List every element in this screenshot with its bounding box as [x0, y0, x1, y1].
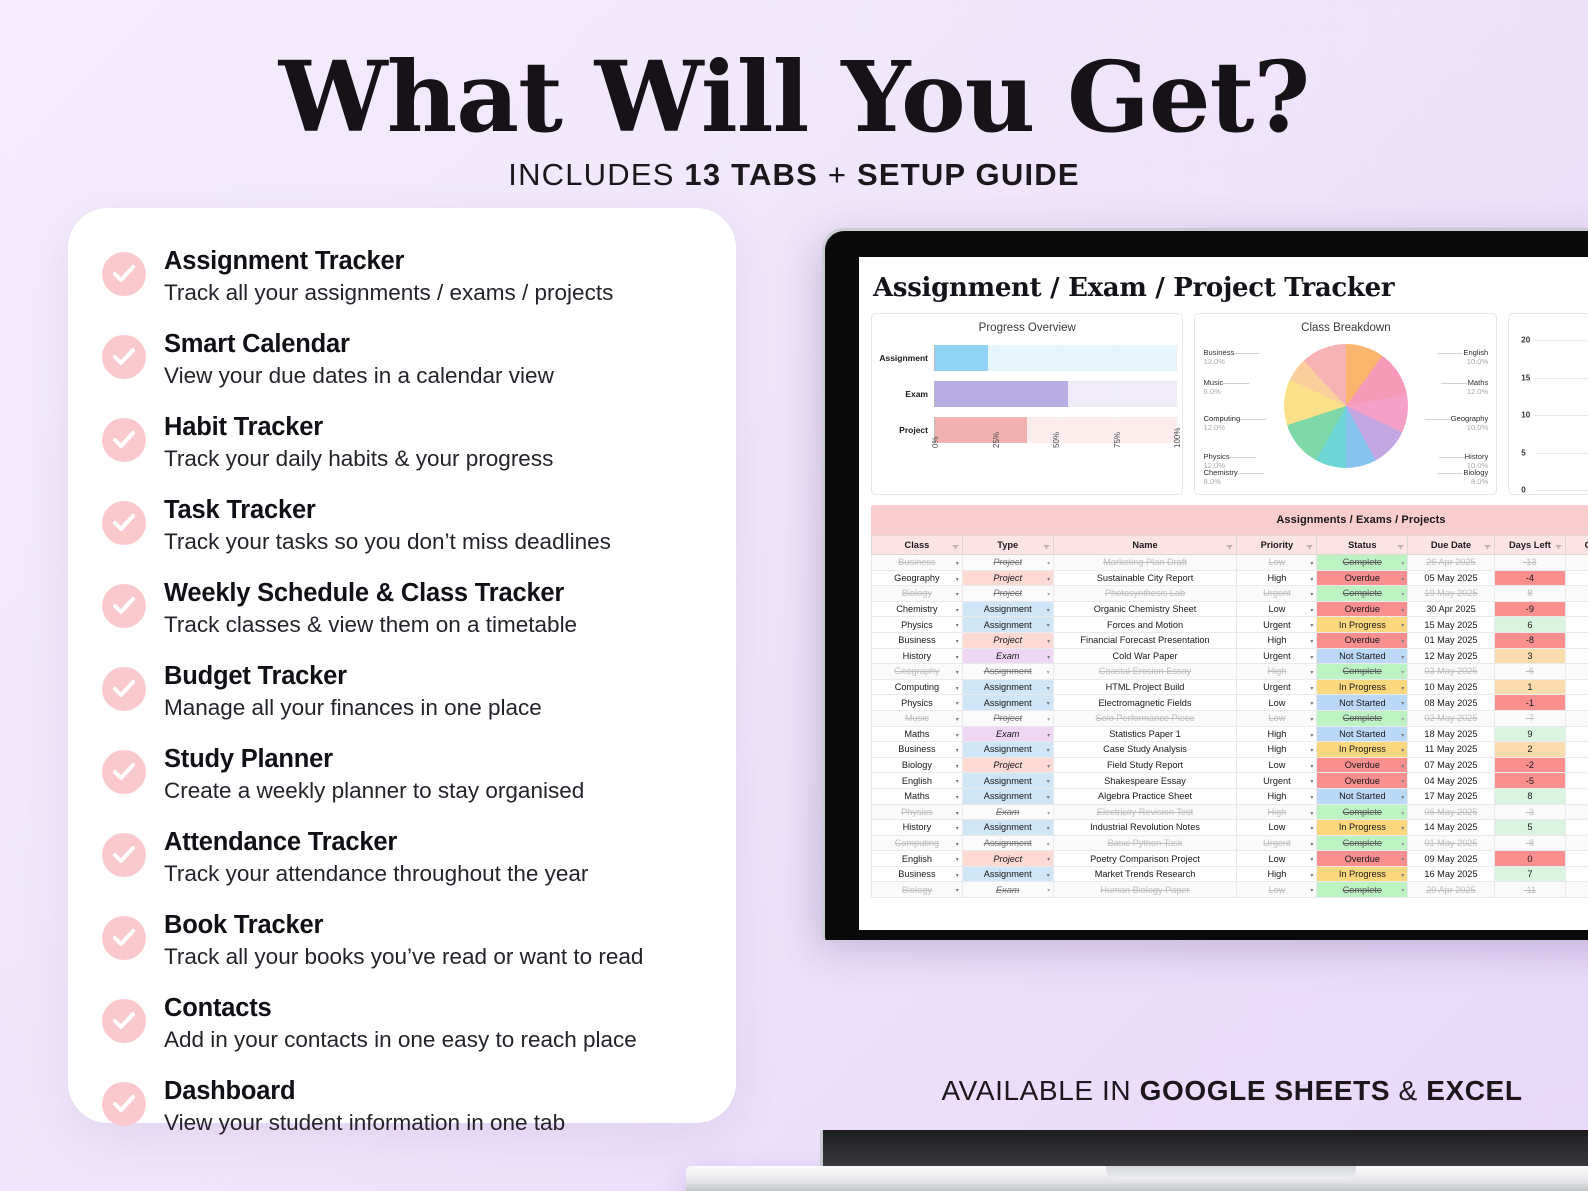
cell-due-date[interactable]: 12 May 2025	[1408, 648, 1494, 664]
dropdown-caret-icon[interactable]: ▾	[1310, 607, 1313, 614]
dropdown-caret-icon[interactable]: ▾	[956, 700, 959, 707]
cell-status[interactable]: Complete▾	[1317, 555, 1408, 571]
dropdown-caret-icon[interactable]: ▾	[1047, 591, 1050, 598]
table-row[interactable]: Business▾ Project▾ Financial Forecast Pr…	[872, 632, 1588, 648]
cell-grade[interactable]: A	[1566, 851, 1588, 867]
cell-priority[interactable]: High▾	[1237, 664, 1317, 680]
dropdown-caret-icon[interactable]: ▾	[1047, 887, 1050, 894]
table-row[interactable]: Geography▾ Assignment▾ Coastal Erosion E…	[872, 664, 1588, 680]
cell-status[interactable]: Overdue▾	[1317, 851, 1408, 867]
pie-label-percent: 6.0%	[1203, 387, 1223, 396]
cell-due-date[interactable]: 07 May 2025	[1408, 757, 1494, 773]
dropdown-caret-icon[interactable]: ▾	[1310, 747, 1313, 754]
dropdown-caret-icon[interactable]: ▾	[1310, 825, 1313, 832]
filter-icon[interactable]	[1226, 542, 1233, 547]
cell-grade[interactable]: B	[1566, 710, 1588, 726]
cell-name[interactable]: HTML Project Build	[1053, 679, 1237, 695]
dropdown-caret-icon[interactable]: ▾	[956, 856, 959, 863]
cell-due-date[interactable]: 01 May 2025	[1408, 632, 1494, 648]
cell-type[interactable]: Project▾	[962, 757, 1053, 773]
cell-status[interactable]: Overdue▾	[1317, 601, 1408, 617]
cell-due-date[interactable]: 10 May 2025	[1408, 679, 1494, 695]
column-header[interactable]: Due Date	[1408, 536, 1494, 555]
cell-class[interactable]: Geography▾	[872, 664, 963, 680]
progress-bar-fill	[935, 345, 988, 371]
dropdown-caret-icon[interactable]: ▾	[1310, 685, 1313, 692]
cell-name[interactable]: Statistics Paper 1	[1053, 726, 1237, 742]
cell-type[interactable]: Exam▾	[962, 726, 1053, 742]
cell-status[interactable]: Overdue▾	[1317, 757, 1408, 773]
feature-title: Study Planner	[164, 744, 584, 774]
dropdown-caret-icon[interactable]: ▾	[1310, 841, 1313, 848]
column-header[interactable]: Days Left	[1494, 536, 1565, 555]
cell-grade[interactable]: C	[1566, 866, 1588, 882]
cell-type[interactable]: Assignment▾	[962, 601, 1053, 617]
filter-icon[interactable]	[1484, 542, 1491, 547]
dropdown-caret-icon[interactable]: ▾	[1310, 887, 1313, 894]
table-row[interactable]: Business▾ Project▾ Marketing Plan Draft …	[872, 555, 1588, 571]
cell-name[interactable]: Algebra Practice Sheet	[1053, 788, 1237, 804]
cell-priority[interactable]: Urgent▾	[1237, 648, 1317, 664]
cell-grade[interactable]: B+	[1566, 820, 1588, 836]
dropdown-caret-icon[interactable]: ▾	[956, 732, 959, 739]
dropdown-caret-icon[interactable]: ▾	[1401, 747, 1404, 754]
cell-class[interactable]: Physics▾	[872, 695, 963, 711]
cell-status[interactable]: Complete▾	[1317, 835, 1408, 851]
table-row[interactable]: Chemistry▾ Assignment▾ Organic Chemistry…	[872, 601, 1588, 617]
cell-type[interactable]: Assignment▾	[962, 866, 1053, 882]
cell-name[interactable]: Basic Python Task	[1053, 835, 1237, 851]
cell-type[interactable]: Assignment▾	[962, 820, 1053, 836]
dropdown-caret-icon[interactable]: ▾	[1047, 856, 1050, 863]
cell-class[interactable]: Biology▾	[872, 757, 963, 773]
cell-due-date[interactable]: 14 May 2025	[1408, 820, 1494, 836]
dropdown-caret-icon[interactable]: ▾	[1401, 887, 1404, 894]
dropdown-caret-icon[interactable]: ▾	[956, 794, 959, 801]
cell-grade[interactable]: A	[1566, 835, 1588, 851]
dropdown-caret-icon[interactable]: ▾	[1401, 763, 1404, 770]
cell-type[interactable]: Project▾	[962, 851, 1053, 867]
cell-priority[interactable]: Urgent▾	[1237, 617, 1317, 633]
dropdown-caret-icon[interactable]: ▾	[1401, 778, 1404, 785]
cell-grade[interactable]: A+	[1566, 695, 1588, 711]
cell-priority[interactable]: Low▾	[1237, 695, 1317, 711]
cell-grade[interactable]: C	[1566, 679, 1588, 695]
dropdown-caret-icon[interactable]: ▾	[1047, 700, 1050, 707]
cell-class[interactable]: Computing▾	[872, 679, 963, 695]
cell-type[interactable]: Assignment▾	[962, 788, 1053, 804]
cell-grade[interactable]: A	[1566, 648, 1588, 664]
pie-label: Maths 12.0%	[1467, 378, 1489, 397]
cell-class[interactable]: History▾	[872, 648, 963, 664]
cell-name[interactable]: Electromagnetic Fields	[1053, 695, 1237, 711]
cell-status[interactable]: Not Started▾	[1317, 788, 1408, 804]
dropdown-caret-icon[interactable]: ▾	[1047, 638, 1050, 645]
cell-due-date[interactable]: 03 May 2025	[1408, 664, 1494, 680]
cell-due-date[interactable]: 16 May 2025	[1408, 866, 1494, 882]
cell-priority[interactable]: Low▾	[1237, 710, 1317, 726]
filter-icon[interactable]	[1043, 542, 1050, 547]
cell-priority[interactable]: High▾	[1237, 788, 1317, 804]
table-row[interactable]: English▾ Project▾ Poetry Comparison Proj…	[872, 851, 1588, 867]
dropdown-caret-icon[interactable]: ▾	[1401, 841, 1404, 848]
cell-days-left: 6	[1494, 617, 1565, 633]
cell-class[interactable]: Business▾	[872, 866, 963, 882]
dropdown-caret-icon[interactable]: ▾	[1310, 576, 1313, 583]
pie-label-percent: 12.0%	[1467, 387, 1489, 396]
cell-type[interactable]: Assignment▾	[962, 835, 1053, 851]
table-row[interactable]: Computing▾ Assignment▾ HTML Project Buil…	[872, 679, 1588, 695]
dropdown-caret-icon[interactable]: ▾	[956, 887, 959, 894]
dropdown-caret-icon[interactable]: ▾	[1401, 856, 1404, 863]
dropdown-caret-icon[interactable]: ▾	[1401, 700, 1404, 707]
cell-days-left: 3	[1494, 648, 1565, 664]
pie-label-percent: 10.0%	[1463, 357, 1488, 366]
cell-type[interactable]: Project▾	[962, 570, 1053, 586]
cell-type[interactable]: Assignment▾	[962, 617, 1053, 633]
dropdown-caret-icon[interactable]: ▾	[956, 591, 959, 598]
feature-title: Smart Calendar	[164, 329, 554, 359]
cell-priority[interactable]: Low▾	[1237, 820, 1317, 836]
dropdown-caret-icon[interactable]: ▾	[1401, 669, 1404, 676]
cell-status[interactable]: Complete▾	[1317, 586, 1408, 602]
dropdown-caret-icon[interactable]: ▾	[1047, 716, 1050, 723]
cell-class[interactable]: Chemistry▾	[872, 601, 963, 617]
dropdown-caret-icon[interactable]: ▾	[1310, 669, 1313, 676]
table-row[interactable]: Maths▾ Exam▾ Statistics Paper 1 High▾ No…	[872, 726, 1588, 742]
dropdown-caret-icon[interactable]: ▾	[1047, 622, 1050, 629]
cell-type[interactable]: Assignment▾	[962, 679, 1053, 695]
cell-priority[interactable]: Low▾	[1237, 882, 1317, 898]
cell-name[interactable]: Solo Performance Piece	[1053, 710, 1237, 726]
cell-class[interactable]: Geography▾	[872, 570, 963, 586]
cell-class[interactable]: Business▾	[872, 742, 963, 758]
charts-row: Progress Overview Assignment Exam Projec…	[859, 313, 1588, 495]
dropdown-caret-icon[interactable]: ▾	[1047, 810, 1050, 817]
cell-status[interactable]: Complete▾	[1317, 710, 1408, 726]
cell-status[interactable]: Overdue▾	[1317, 570, 1408, 586]
cell-grade[interactable]: B	[1566, 804, 1588, 820]
cell-priority[interactable]: High▾	[1237, 804, 1317, 820]
cell-due-date[interactable]: 19 May 2025	[1408, 586, 1494, 602]
dropdown-caret-icon[interactable]: ▾	[956, 669, 959, 676]
dropdown-caret-icon[interactable]: ▾	[1310, 591, 1313, 598]
dropdown-caret-icon[interactable]: ▾	[1047, 560, 1050, 567]
cell-status[interactable]: In Progress▾	[1317, 866, 1408, 882]
cell-status[interactable]: Not Started▾	[1317, 695, 1408, 711]
table-row[interactable]: Biology▾ Exam▾ Human Biology Paper Low▾ …	[872, 882, 1588, 898]
cell-grade[interactable]: B+	[1566, 726, 1588, 742]
cell-name[interactable]: Shakespeare Essay	[1053, 773, 1237, 789]
cell-grade[interactable]: A	[1566, 742, 1588, 758]
cell-priority[interactable]: Urgent▾	[1237, 586, 1317, 602]
cell-name[interactable]: Organic Chemistry Sheet	[1053, 601, 1237, 617]
dropdown-caret-icon[interactable]: ▾	[1401, 591, 1404, 598]
subtitle-mid: +	[818, 157, 857, 192]
dropdown-caret-icon[interactable]: ▾	[956, 810, 959, 817]
dropdown-caret-icon[interactable]: ▾	[956, 607, 959, 614]
feature-description: Track all your books you’ve read or want…	[164, 943, 643, 971]
dropdown-caret-icon[interactable]: ▾	[1401, 638, 1404, 645]
cell-due-date[interactable]: 06 May 2025	[1408, 804, 1494, 820]
footer-google-sheets: GOOGLE SHEETS	[1140, 1075, 1391, 1106]
cell-grade[interactable]: A	[1566, 570, 1588, 586]
cell-due-date[interactable]: 02 May 2025	[1408, 710, 1494, 726]
dropdown-caret-icon[interactable]: ▾	[1310, 622, 1313, 629]
dropdown-caret-icon[interactable]: ▾	[1310, 716, 1313, 723]
dropdown-caret-icon[interactable]: ▾	[1047, 576, 1050, 583]
dropdown-caret-icon[interactable]: ▾	[1401, 716, 1404, 723]
cell-type[interactable]: Assignment▾	[962, 773, 1053, 789]
dropdown-caret-icon[interactable]: ▾	[956, 576, 959, 583]
cell-class[interactable]: Physics▾	[872, 804, 963, 820]
pie-label-name: Music	[1203, 378, 1223, 387]
table-row[interactable]: Computing▾ Assignment▾ Basic Python Task…	[872, 835, 1588, 851]
cell-type[interactable]: Assignment▾	[962, 664, 1053, 680]
cell-priority[interactable]: High▾	[1237, 866, 1317, 882]
dropdown-caret-icon[interactable]: ▾	[1401, 810, 1404, 817]
dropdown-caret-icon[interactable]: ▾	[1401, 576, 1404, 583]
cell-status[interactable]: Not Started▾	[1317, 726, 1408, 742]
cell-status[interactable]: Overdue▾	[1317, 773, 1408, 789]
axis-tick: 15	[1521, 373, 1530, 382]
dropdown-caret-icon[interactable]: ▾	[956, 622, 959, 629]
cell-class[interactable]: Biology▾	[872, 586, 963, 602]
cell-name[interactable]: Marketing Plan Draft	[1053, 555, 1237, 571]
dropdown-caret-icon[interactable]: ▾	[1047, 654, 1050, 661]
cell-due-date[interactable]: 26 Apr 2025	[1408, 555, 1494, 571]
cell-grade[interactable]: C	[1566, 773, 1588, 789]
filter-icon[interactable]	[952, 542, 959, 547]
feature-item: Weekly Schedule & Class Tracker Track cl…	[102, 578, 696, 639]
column-header[interactable]: Class	[872, 536, 963, 555]
dropdown-caret-icon[interactable]: ▾	[1310, 700, 1313, 707]
dropdown-caret-icon[interactable]: ▾	[1401, 685, 1404, 692]
table-row[interactable]: Physics▾ Exam▾ Electricity Revision Test…	[872, 804, 1588, 820]
dropdown-caret-icon[interactable]: ▾	[1310, 794, 1313, 801]
cell-status[interactable]: Complete▾	[1317, 882, 1408, 898]
table-row[interactable]: Biology▾ Project▾ Field Study Report Low…	[872, 757, 1588, 773]
cell-grade[interactable]: C	[1566, 586, 1588, 602]
cell-name[interactable]: Sustainable City Report	[1053, 570, 1237, 586]
dropdown-caret-icon[interactable]: ▾	[1047, 732, 1050, 739]
dropdown-caret-icon[interactable]: ▾	[1047, 794, 1050, 801]
cell-name[interactable]: Coastal Erosion Essay	[1053, 664, 1237, 680]
filter-icon[interactable]	[1306, 542, 1313, 547]
cell-due-date[interactable]: 09 May 2025	[1408, 851, 1494, 867]
cell-status[interactable]: Overdue▾	[1317, 632, 1408, 648]
cell-name[interactable]: Electricity Revision Test	[1053, 804, 1237, 820]
dropdown-caret-icon[interactable]: ▾	[1401, 732, 1404, 739]
dropdown-caret-icon[interactable]: ▾	[956, 747, 959, 754]
dropdown-caret-icon[interactable]: ▾	[956, 654, 959, 661]
cell-priority[interactable]: Low▾	[1237, 757, 1317, 773]
table-row[interactable]: Physics▾ Assignment▾ Forces and Motion U…	[872, 617, 1588, 633]
cell-name[interactable]: Case Study Analysis	[1053, 742, 1237, 758]
table-row[interactable]: Music▾ Project▾ Solo Performance Piece L…	[872, 710, 1588, 726]
dropdown-caret-icon[interactable]: ▾	[1310, 778, 1313, 785]
cell-class[interactable]: Maths▾	[872, 726, 963, 742]
cell-type[interactable]: Project▾	[962, 710, 1053, 726]
cell-name[interactable]: Industrial Revolution Notes	[1053, 820, 1237, 836]
table-row[interactable]: Maths▾ Assignment▾ Algebra Practice Shee…	[872, 788, 1588, 804]
dropdown-caret-icon[interactable]: ▾	[956, 778, 959, 785]
dropdown-caret-icon[interactable]: ▾	[1310, 654, 1313, 661]
dropdown-caret-icon[interactable]: ▾	[1047, 685, 1050, 692]
dropdown-caret-icon[interactable]: ▾	[1310, 810, 1313, 817]
cell-priority[interactable]: Urgent▾	[1237, 773, 1317, 789]
cell-name[interactable]: Human Biology Paper	[1053, 882, 1237, 898]
cell-class[interactable]: Maths▾	[872, 788, 963, 804]
cell-priority[interactable]: Urgent▾	[1237, 679, 1317, 695]
cell-type[interactable]: Project▾	[962, 555, 1053, 571]
cell-due-date[interactable]: 30 Apr 2025	[1408, 601, 1494, 617]
dropdown-caret-icon[interactable]: ▾	[1310, 732, 1313, 739]
cell-priority[interactable]: High▾	[1237, 570, 1317, 586]
dropdown-caret-icon[interactable]: ▾	[1047, 778, 1050, 785]
cell-class[interactable]: English▾	[872, 851, 963, 867]
cell-priority[interactable]: High▾	[1237, 726, 1317, 742]
cell-due-date[interactable]: 08 May 2025	[1408, 695, 1494, 711]
table-row[interactable]: Business▾ Assignment▾ Market Trends Rese…	[872, 866, 1588, 882]
dropdown-caret-icon[interactable]: ▾	[1310, 856, 1313, 863]
cell-due-date[interactable]: 15 May 2025	[1408, 617, 1494, 633]
cell-grade[interactable]: A	[1566, 882, 1588, 898]
dropdown-caret-icon[interactable]: ▾	[1047, 747, 1050, 754]
cell-grade[interactable]: A	[1566, 555, 1588, 571]
cell-type[interactable]: Exam▾	[962, 882, 1053, 898]
dropdown-caret-icon[interactable]: ▾	[956, 763, 959, 770]
table-row[interactable]: History▾ Exam▾ Cold War Paper Urgent▾ No…	[872, 648, 1588, 664]
dropdown-caret-icon[interactable]: ▾	[1401, 794, 1404, 801]
dropdown-caret-icon[interactable]: ▾	[1047, 872, 1050, 879]
cell-type[interactable]: Project▾	[962, 586, 1053, 602]
table-row[interactable]: Business▾ Assignment▾ Case Study Analysi…	[872, 742, 1588, 758]
cell-status[interactable]: Complete▾	[1317, 664, 1408, 680]
table-row[interactable]: History▾ Assignment▾ Industrial Revoluti…	[872, 820, 1588, 836]
dropdown-caret-icon[interactable]: ▾	[1310, 763, 1313, 770]
cell-class[interactable]: English▾	[872, 773, 963, 789]
cell-class[interactable]: Business▾	[872, 632, 963, 648]
cell-priority[interactable]: Low▾	[1237, 601, 1317, 617]
dropdown-caret-icon[interactable]: ▾	[956, 716, 959, 723]
cell-class[interactable]: Computing▾	[872, 835, 963, 851]
cell-days-left: -8	[1494, 632, 1565, 648]
axis-tick: 50%	[1052, 432, 1061, 448]
cell-priority[interactable]: Low▾	[1237, 555, 1317, 571]
check-icon	[102, 418, 146, 462]
dropdown-caret-icon[interactable]: ▾	[1401, 560, 1404, 567]
dropdown-caret-icon[interactable]: ▾	[956, 825, 959, 832]
dropdown-caret-icon[interactable]: ▾	[1047, 825, 1050, 832]
cell-name[interactable]: Poetry Comparison Project	[1053, 851, 1237, 867]
cell-status[interactable]: In Progress▾	[1317, 742, 1408, 758]
cell-due-date[interactable]: 01 May 2025	[1408, 835, 1494, 851]
filter-icon[interactable]	[1555, 542, 1562, 547]
cell-name[interactable]: Financial Forecast Presentation	[1053, 632, 1237, 648]
cell-grade[interactable]: A+	[1566, 788, 1588, 804]
cell-priority[interactable]: Urgent▾	[1237, 835, 1317, 851]
dropdown-caret-icon[interactable]: ▾	[1401, 622, 1404, 629]
dropdown-caret-icon[interactable]: ▾	[1047, 841, 1050, 848]
filter-icon[interactable]	[1397, 542, 1404, 547]
cell-name[interactable]: Field Study Report	[1053, 757, 1237, 773]
cell-due-date[interactable]: 05 May 2025	[1408, 570, 1494, 586]
column-header[interactable]: Grade	[1566, 536, 1588, 555]
dropdown-caret-icon[interactable]: ▾	[1401, 654, 1404, 661]
cell-due-date[interactable]: 17 May 2025	[1408, 788, 1494, 804]
cell-priority[interactable]: High▾	[1237, 632, 1317, 648]
dropdown-caret-icon[interactable]: ▾	[956, 560, 959, 567]
cell-name[interactable]: Photosynthesis Lab	[1053, 586, 1237, 602]
cell-due-date[interactable]: 04 May 2025	[1408, 773, 1494, 789]
cell-status[interactable]: In Progress▾	[1317, 820, 1408, 836]
column-header[interactable]: Status	[1317, 536, 1408, 555]
cell-grade[interactable]: B+	[1566, 632, 1588, 648]
dropdown-caret-icon[interactable]: ▾	[1401, 872, 1404, 879]
cell-class[interactable]: Music▾	[872, 710, 963, 726]
cell-grade[interactable]: A	[1566, 664, 1588, 680]
dropdown-caret-icon[interactable]: ▾	[956, 638, 959, 645]
dropdown-caret-icon[interactable]: ▾	[1310, 560, 1313, 567]
cell-due-date[interactable]: 18 May 2025	[1408, 726, 1494, 742]
cell-grade[interactable]: B	[1566, 617, 1588, 633]
cell-status[interactable]: In Progress▾	[1317, 617, 1408, 633]
cell-class[interactable]: History▾	[872, 820, 963, 836]
cell-name[interactable]: Market Trends Research	[1053, 866, 1237, 882]
dropdown-caret-icon[interactable]: ▾	[1047, 669, 1050, 676]
cell-grade[interactable]: A	[1566, 757, 1588, 773]
cell-status[interactable]: Complete▾	[1317, 804, 1408, 820]
table-row[interactable]: Physics▾ Assignment▾ Electromagnetic Fie…	[872, 695, 1588, 711]
table-row[interactable]: Biology▾ Project▾ Photosynthesis Lab Urg…	[872, 586, 1588, 602]
cell-type[interactable]: Exam▾	[962, 648, 1053, 664]
column-header[interactable]: Type	[962, 536, 1053, 555]
cell-status[interactable]: In Progress▾	[1317, 679, 1408, 695]
cell-type[interactable]: Assignment▾	[962, 695, 1053, 711]
dropdown-caret-icon[interactable]: ▾	[1401, 825, 1404, 832]
cell-priority[interactable]: High▾	[1237, 742, 1317, 758]
cell-due-date[interactable]: 29 Apr 2025	[1408, 882, 1494, 898]
cell-class[interactable]: Biology▾	[872, 882, 963, 898]
cell-due-date[interactable]: 11 May 2025	[1408, 742, 1494, 758]
table-row[interactable]: Geography▾ Project▾ Sustainable City Rep…	[872, 570, 1588, 586]
pie-label-name: Maths	[1468, 378, 1489, 387]
cell-status[interactable]: Not Started▾	[1317, 648, 1408, 664]
dropdown-caret-icon[interactable]: ▾	[956, 872, 959, 879]
cell-class[interactable]: Business▾	[872, 555, 963, 571]
dropdown-caret-icon[interactable]: ▾	[1310, 638, 1313, 645]
dropdown-caret-icon[interactable]: ▾	[1047, 763, 1050, 770]
cell-name[interactable]: Forces and Motion	[1053, 617, 1237, 633]
cell-type[interactable]: Assignment▾	[962, 742, 1053, 758]
cell-class[interactable]: Physics▾	[872, 617, 963, 633]
column-header[interactable]: Priority	[1237, 536, 1317, 555]
cell-name[interactable]: Cold War Paper	[1053, 648, 1237, 664]
dropdown-caret-icon[interactable]: ▾	[1310, 872, 1313, 879]
table-row[interactable]: English▾ Assignment▾ Shakespeare Essay U…	[872, 773, 1588, 789]
cell-grade[interactable]: A+	[1566, 601, 1588, 617]
cell-type[interactable]: Project▾	[962, 632, 1053, 648]
cell-priority[interactable]: Low▾	[1237, 851, 1317, 867]
dropdown-caret-icon[interactable]: ▾	[956, 685, 959, 692]
column-header[interactable]: Name	[1053, 536, 1237, 555]
progress-axis: 0%25%50%75%100%	[934, 448, 1176, 478]
cell-type[interactable]: Exam▾	[962, 804, 1053, 820]
dropdown-caret-icon[interactable]: ▾	[1401, 607, 1404, 614]
dropdown-caret-icon[interactable]: ▾	[956, 841, 959, 848]
dropdown-caret-icon[interactable]: ▾	[1047, 607, 1050, 614]
